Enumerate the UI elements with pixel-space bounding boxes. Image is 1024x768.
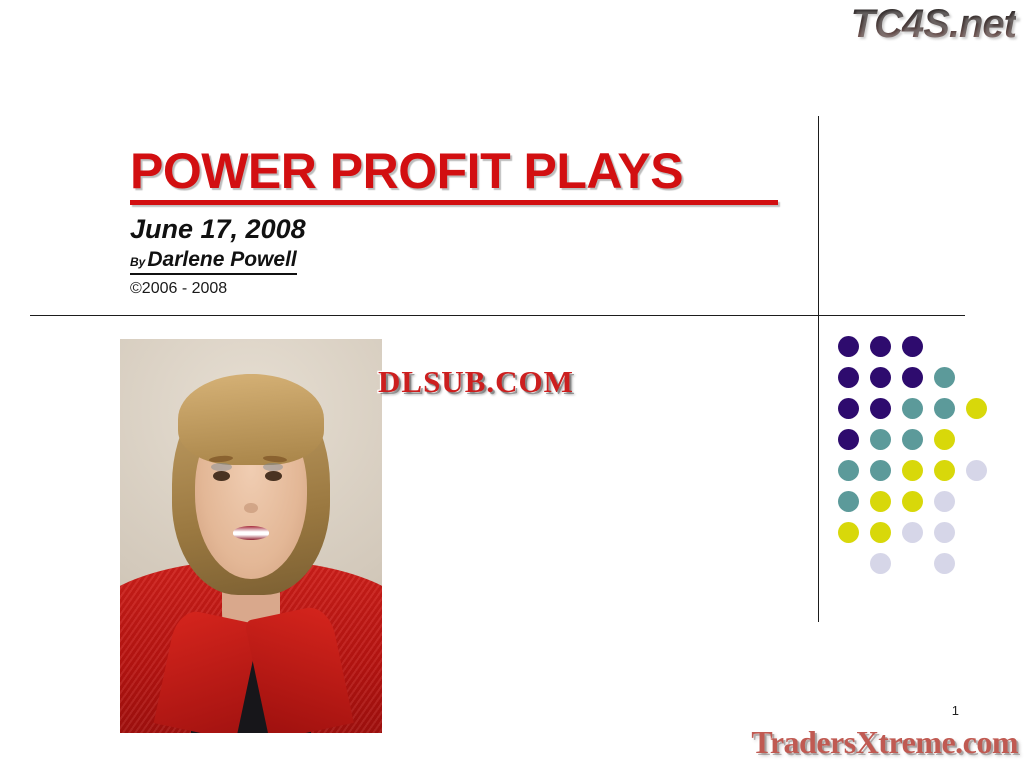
dot-teal xyxy=(902,398,923,419)
byline-author: Darlene Powell xyxy=(147,248,296,271)
dot-lavender xyxy=(966,460,987,481)
dot-purple xyxy=(870,336,891,357)
portrait-mouth xyxy=(233,526,270,539)
byline-prefix: By xyxy=(130,255,145,269)
dot-lavender xyxy=(902,522,923,543)
dot-teal xyxy=(902,429,923,450)
dot-purple xyxy=(838,429,859,450)
dot-yellow xyxy=(870,522,891,543)
dot-teal xyxy=(934,367,955,388)
dot-purple xyxy=(838,336,859,357)
dot-teal xyxy=(870,460,891,481)
portrait-hair-fringe xyxy=(178,374,325,465)
dot-lavender xyxy=(870,553,891,574)
dot-purple xyxy=(870,367,891,388)
watermark-dlsub: DLSUB.COM xyxy=(378,364,574,400)
dot-teal xyxy=(934,398,955,419)
title-block: POWER PROFIT PLAYS June 17, 2008 ByDarle… xyxy=(130,146,790,298)
portrait-nose xyxy=(244,503,257,513)
brand-logo-tc4s: TC4S.net xyxy=(851,2,1016,47)
dot-yellow xyxy=(838,522,859,543)
slide-date: June 17, 2008 xyxy=(130,214,790,245)
vertical-divider-line xyxy=(818,116,819,622)
dot-purple xyxy=(870,398,891,419)
dot-purple xyxy=(838,398,859,419)
dot-purple xyxy=(838,367,859,388)
presenter-portrait-photo xyxy=(120,339,382,733)
page-number: 1 xyxy=(952,703,959,718)
dot-purple xyxy=(902,367,923,388)
dot-teal xyxy=(838,491,859,512)
dot-yellow xyxy=(870,491,891,512)
dot-teal xyxy=(838,460,859,481)
copyright-notice: ©2006 - 2008 xyxy=(130,280,790,298)
dot-lavender xyxy=(934,491,955,512)
dot-yellow xyxy=(902,491,923,512)
dot-lavender xyxy=(934,522,955,543)
page-title: POWER PROFIT PLAYS xyxy=(130,146,790,197)
dot-teal xyxy=(870,429,891,450)
byline: ByDarlene Powell xyxy=(130,248,297,275)
horizontal-divider-line xyxy=(30,315,965,316)
dot-lavender xyxy=(934,553,955,574)
dot-yellow xyxy=(934,460,955,481)
dot-yellow xyxy=(934,429,955,450)
dot-purple xyxy=(902,336,923,357)
footer-logo-tradersxtreme: TradersXtreme.com xyxy=(751,724,1018,761)
title-underline-bar xyxy=(130,200,778,205)
dot-yellow xyxy=(966,398,987,419)
dot-yellow xyxy=(902,460,923,481)
portrait-eye-left xyxy=(213,471,230,481)
decorative-dot-grid xyxy=(838,336,1008,586)
